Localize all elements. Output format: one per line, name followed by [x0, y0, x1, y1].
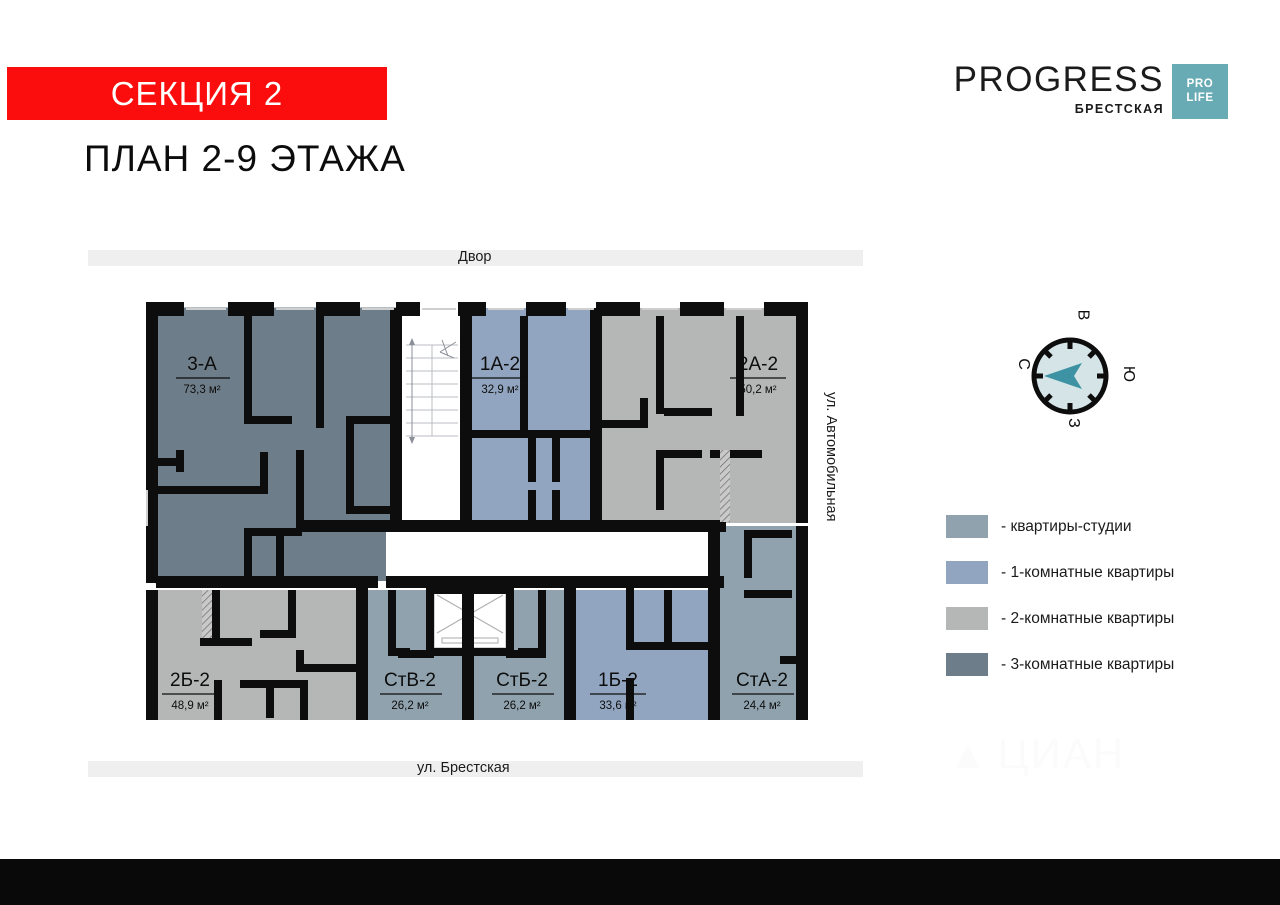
logo-wordmark: PROGRESS — [954, 63, 1164, 97]
apt-code-stb2: СтБ-2 — [496, 670, 548, 691]
legend-swatch-2room — [946, 607, 988, 630]
legend: - квартиры-студии - 1-комнатные квартиры… — [946, 515, 1246, 699]
legend-label-1room: - 1-комнатные квартиры — [1001, 564, 1174, 582]
legend-item-studio: - квартиры-студии — [946, 515, 1246, 538]
legend-label-studio: - квартиры-студии — [1001, 518, 1132, 536]
apt-area-1a2: 32,9 м² — [481, 384, 518, 396]
watermark: ▲ЦИАН — [948, 730, 1125, 778]
apt-area-sta2: 24,4 м² — [743, 700, 780, 712]
courtyard-label: Двор — [458, 249, 492, 265]
floor-plan-drawing: 3-А 73,3 м² 1А-2 32,9 м² 2А-2 50,2 м² 2Б… — [140, 290, 820, 720]
brestskaya-street-label: ул. Брестская — [417, 760, 510, 776]
logo-subtitle: БРЕСТСКАЯ — [1075, 102, 1164, 116]
apt-area-2a2: 50,2 м² — [739, 384, 776, 396]
legend-swatch-studio — [946, 515, 988, 538]
apartment-shape-1b2 — [574, 590, 714, 720]
legend-swatch-3room — [946, 653, 988, 676]
apt-area-3a: 73,3 м² — [183, 384, 220, 396]
apt-code-3a: 3-А — [187, 354, 217, 375]
logo-badge-line1: PRO — [1187, 78, 1214, 92]
apt-code-sta2: СтА-2 — [736, 670, 788, 691]
brand-logo: PROGRESS БРЕСТСКАЯ PRO LIFE — [954, 60, 1228, 119]
section-badge-label: СЕКЦИЯ 2 — [111, 75, 284, 113]
legend-item-1room: - 1-комнатные квартиры — [946, 561, 1246, 584]
legend-label-3room: - 3-комнатные квартиры — [1001, 656, 1174, 674]
compass-label-west: З — [1064, 418, 1082, 428]
compass-label-south: Ю — [1119, 366, 1137, 382]
compass-label-north: С — [1014, 358, 1032, 370]
watermark-logo-icon: ▲ — [948, 733, 990, 777]
apt-code-stv2: СтВ-2 — [384, 670, 436, 691]
page-title: ПЛАН 2-9 ЭТАЖА — [84, 138, 406, 180]
legend-swatch-1room — [946, 561, 988, 584]
compass-rose — [1024, 330, 1116, 422]
logo-badge-line2: LIFE — [1186, 92, 1213, 106]
apt-area-stb2: 26,2 м² — [503, 700, 540, 712]
apt-code-1a2: 1А-2 — [480, 354, 520, 375]
apt-code-1b2: 1Б-2 — [598, 670, 638, 691]
watermark-text: ЦИАН — [998, 730, 1126, 777]
section-badge: СЕКЦИЯ 2 — [7, 67, 387, 120]
apt-area-2b2: 48,9 м² — [171, 700, 208, 712]
bottom-bar — [0, 859, 1280, 905]
apt-code-2b2: 2Б-2 — [170, 670, 210, 691]
apt-area-1b2: 33,6 м² — [599, 700, 636, 712]
avtomobilnaya-street-label: ул. Автомобильная — [823, 392, 839, 521]
compass-label-east: В — [1073, 310, 1091, 321]
legend-label-2room: - 2-комнатные квартиры — [1001, 610, 1174, 628]
legend-item-3room: - 3-комнатные квартиры — [946, 653, 1246, 676]
logo-prolife-badge: PRO LIFE — [1172, 64, 1228, 119]
apt-area-stv2: 26,2 м² — [391, 700, 428, 712]
floor-plan-page: СЕКЦИЯ 2 ПЛАН 2-9 ЭТАЖА PROGRESS БРЕСТСК… — [0, 0, 1280, 905]
apt-code-2a2: 2А-2 — [738, 354, 778, 375]
logo-text-block: PROGRESS БРЕСТСКАЯ — [954, 60, 1172, 119]
legend-item-2room: - 2-комнатные квартиры — [946, 607, 1246, 630]
